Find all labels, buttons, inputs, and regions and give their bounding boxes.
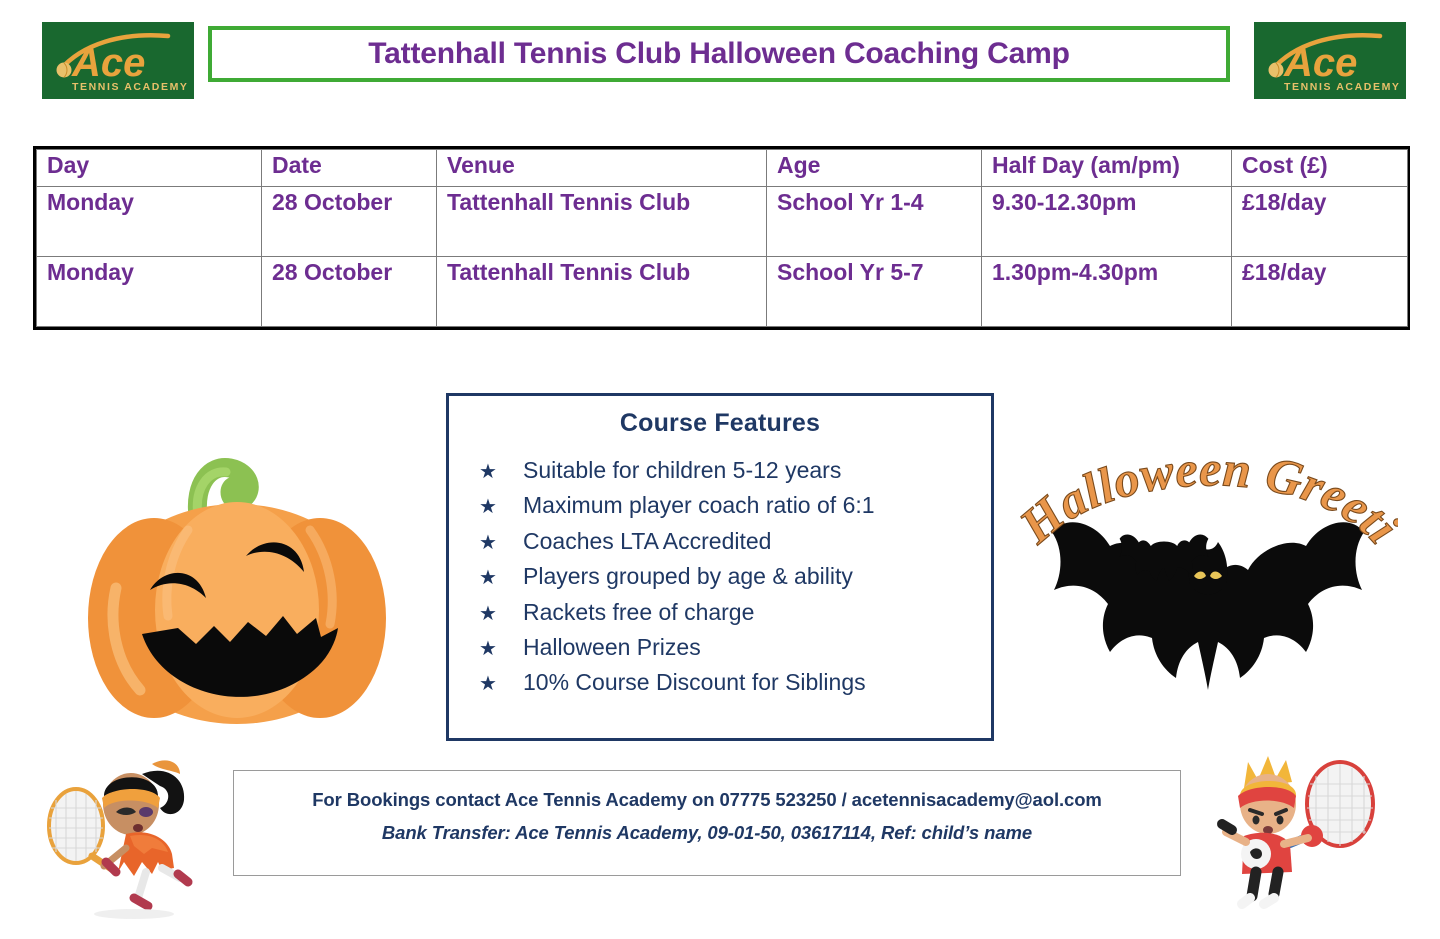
cell-age: School Yr 1-4 — [767, 187, 982, 257]
course-features-list: ★ Suitable for children 5-12 years ★ Max… — [449, 456, 991, 697]
list-item: ★ Halloween Prizes — [479, 633, 991, 661]
cell-day: Monday — [37, 257, 262, 327]
svg-text:Ace: Ace — [1283, 41, 1357, 85]
column-header-venue: Venue — [437, 150, 767, 187]
column-header-cost: Cost (£) — [1232, 150, 1408, 187]
bat-greetings-icon: Halloween Greetings — [1018, 438, 1398, 743]
course-features-title: Course Features — [449, 409, 991, 438]
star-icon: ★ — [479, 531, 523, 555]
star-icon: ★ — [479, 566, 523, 590]
table-row: Monday 28 October Tattenhall Tennis Club… — [37, 187, 1408, 257]
star-icon: ★ — [479, 460, 523, 484]
list-item: ★ 10% Course Discount for Siblings — [479, 668, 991, 696]
girl-tennis-player-illustration — [34, 756, 214, 926]
booking-info-box: For Bookings contact Ace Tennis Academy … — [233, 770, 1181, 876]
column-header-day: Day — [37, 150, 262, 187]
page-header: Ace TENNIS ACADEMY Tattenhall Tennis Clu… — [0, 0, 1440, 120]
star-icon: ★ — [479, 672, 523, 696]
table-header-row: Day Date Venue Age Half Day (am/pm) Cost… — [37, 150, 1408, 187]
cell-date: 28 October — [262, 187, 437, 257]
schedule-table-container: Day Date Venue Age Half Day (am/pm) Cost… — [33, 146, 1410, 330]
svg-text:TENNIS ACADEMY: TENNIS ACADEMY — [1284, 81, 1401, 93]
cell-venue: Tattenhall Tennis Club — [437, 187, 767, 257]
feature-label: 10% Course Discount for Siblings — [523, 668, 866, 696]
cell-half-day: 1.30pm-4.30pm — [982, 257, 1232, 327]
boy-tennis-player-illustration — [1212, 752, 1387, 927]
cell-cost: £18/day — [1232, 187, 1408, 257]
page-title: Tattenhall Tennis Club Halloween Coachin… — [368, 37, 1069, 71]
list-item: ★ Coaches LTA Accredited — [479, 527, 991, 555]
feature-label: Coaches LTA Accredited — [523, 527, 771, 555]
cell-date: 28 October — [262, 257, 437, 327]
column-header-age: Age — [767, 150, 982, 187]
feature-label: Players grouped by age & ability — [523, 562, 853, 590]
feature-label: Halloween Prizes — [523, 633, 701, 661]
list-item: ★ Maximum player coach ratio of 6:1 — [479, 491, 991, 519]
column-header-date: Date — [262, 150, 437, 187]
table-row: Monday 28 October Tattenhall Tennis Club… — [37, 257, 1408, 327]
svg-text:TENNIS ACADEMY: TENNIS ACADEMY — [72, 81, 189, 93]
ace-tennis-academy-logo-left: Ace TENNIS ACADEMY — [42, 22, 194, 99]
list-item: ★ Suitable for children 5-12 years — [479, 456, 991, 484]
ace-tennis-academy-logo-right: Ace TENNIS ACADEMY — [1254, 22, 1406, 99]
feature-label: Maximum player coach ratio of 6:1 — [523, 491, 875, 519]
cell-venue: Tattenhall Tennis Club — [437, 257, 767, 327]
course-features-box: Course Features ★ Suitable for children … — [446, 393, 994, 741]
star-icon: ★ — [479, 637, 523, 661]
cell-age: School Yr 5-7 — [767, 257, 982, 327]
cell-half-day: 9.30-12.30pm — [982, 187, 1232, 257]
ace-logo-icon: Ace TENNIS ACADEMY — [42, 22, 194, 99]
schedule-table: Day Date Venue Age Half Day (am/pm) Cost… — [36, 149, 1408, 327]
svg-text:Ace: Ace — [71, 41, 145, 85]
boy-tennis-player-icon — [1212, 752, 1387, 927]
column-header-half-day: Half Day (am/pm) — [982, 150, 1232, 187]
bank-transfer-line: Bank Transfer: Ace Tennis Academy, 09-01… — [234, 822, 1180, 844]
booking-contact-line: For Bookings contact Ace Tennis Academy … — [234, 789, 1180, 811]
jack-o-lantern-icon — [78, 438, 396, 738]
star-icon: ★ — [479, 495, 523, 519]
ace-logo-icon: Ace TENNIS ACADEMY — [1254, 22, 1406, 99]
feature-label: Rackets free of charge — [523, 598, 754, 626]
halloween-greetings-artwork: Halloween Greetings — [1018, 438, 1398, 743]
cell-day: Monday — [37, 187, 262, 257]
cell-cost: £18/day — [1232, 257, 1408, 327]
feature-label: Suitable for children 5-12 years — [523, 456, 841, 484]
list-item: ★ Players grouped by age & ability — [479, 562, 991, 590]
list-item: ★ Rackets free of charge — [479, 598, 991, 626]
star-icon: ★ — [479, 602, 523, 626]
girl-tennis-player-icon — [34, 756, 214, 926]
pumpkin-illustration — [78, 438, 396, 738]
page-title-box: Tattenhall Tennis Club Halloween Coachin… — [208, 26, 1230, 82]
